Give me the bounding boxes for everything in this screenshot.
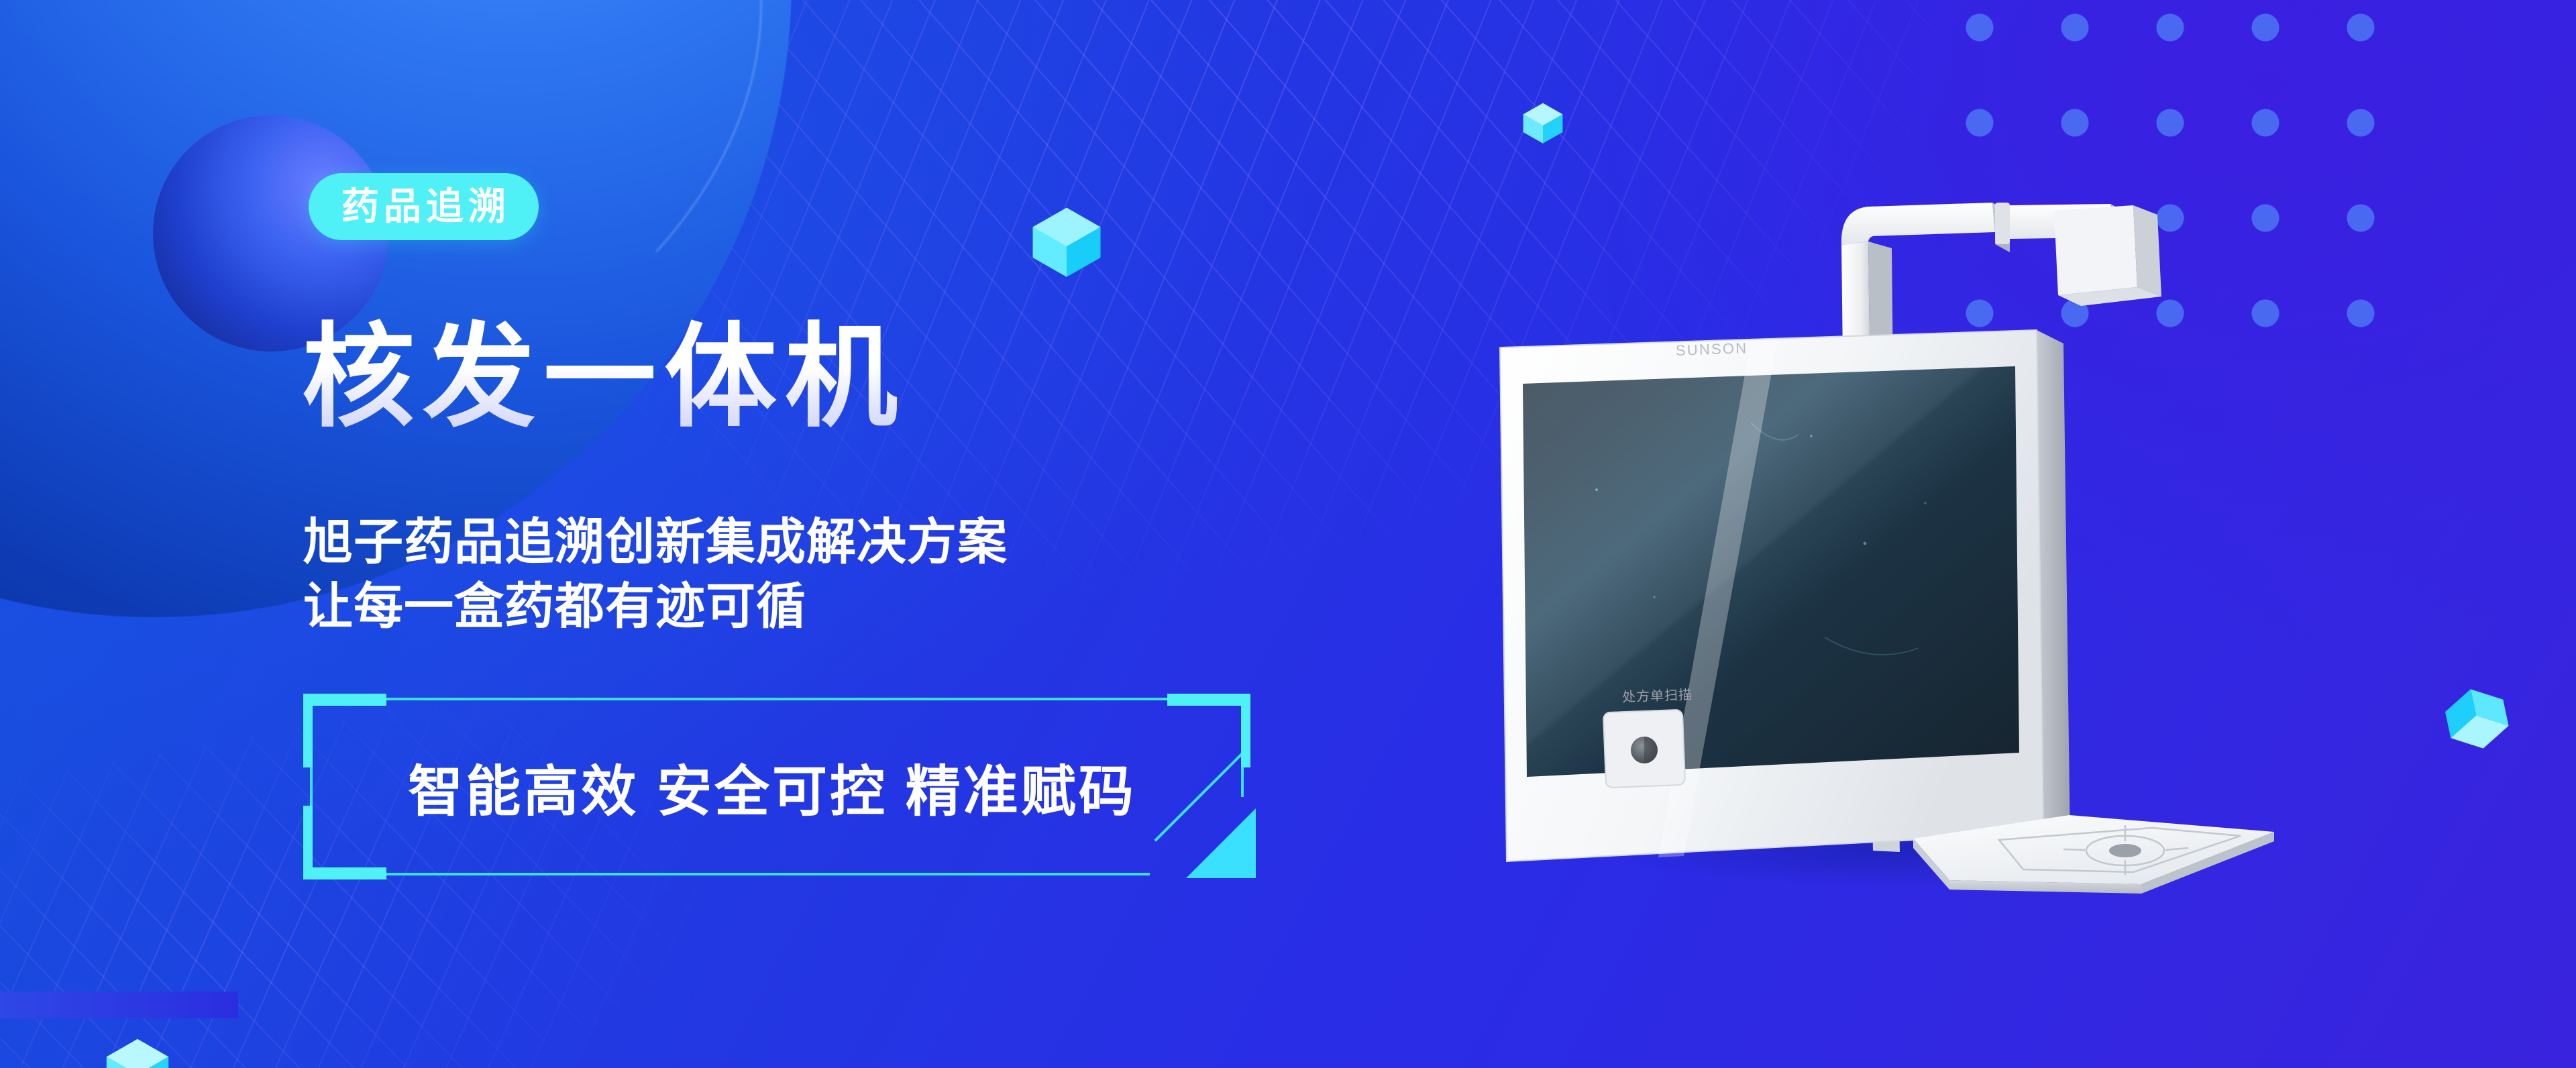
hero-text-block: 药品追溯 核发一体机 旭子药品追溯创新集成解决方案 让每一盒药都有迹可循 智能高…	[0, 0, 1409, 1068]
scanner-device-illustration: SUNSON 处方单扫描	[1462, 168, 2281, 886]
device-brand-label: SUNSON	[1676, 339, 1748, 360]
subtitle-block: 旭子药品追溯创新集成解决方案 让每一盒药都有迹可循	[303, 510, 1008, 639]
cube-icon-upper-right	[1519, 99, 1566, 146]
cube-icon-far-right	[2435, 678, 2519, 761]
subtitle-line-2: 让每一盒药都有迹可循	[303, 574, 1008, 639]
category-badge-label: 药品追溯	[337, 188, 511, 225]
tagline-frame: 智能高效 安全可控 精准赋码	[310, 698, 1244, 875]
device-scan-label: 处方单扫描	[1622, 684, 1693, 706]
subtitle-line-1: 旭子药品追溯创新集成解决方案	[303, 510, 1008, 574]
category-badge: 药品追溯	[309, 173, 539, 240]
tagline-text: 智能高效 安全可控 精准赋码	[310, 698, 1244, 875]
promo-banner: 药品追溯 核发一体机 旭子药品追溯创新集成解决方案 让每一盒药都有迹可循 智能高…	[0, 0, 2576, 1068]
page-title: 核发一体机	[302, 317, 906, 438]
